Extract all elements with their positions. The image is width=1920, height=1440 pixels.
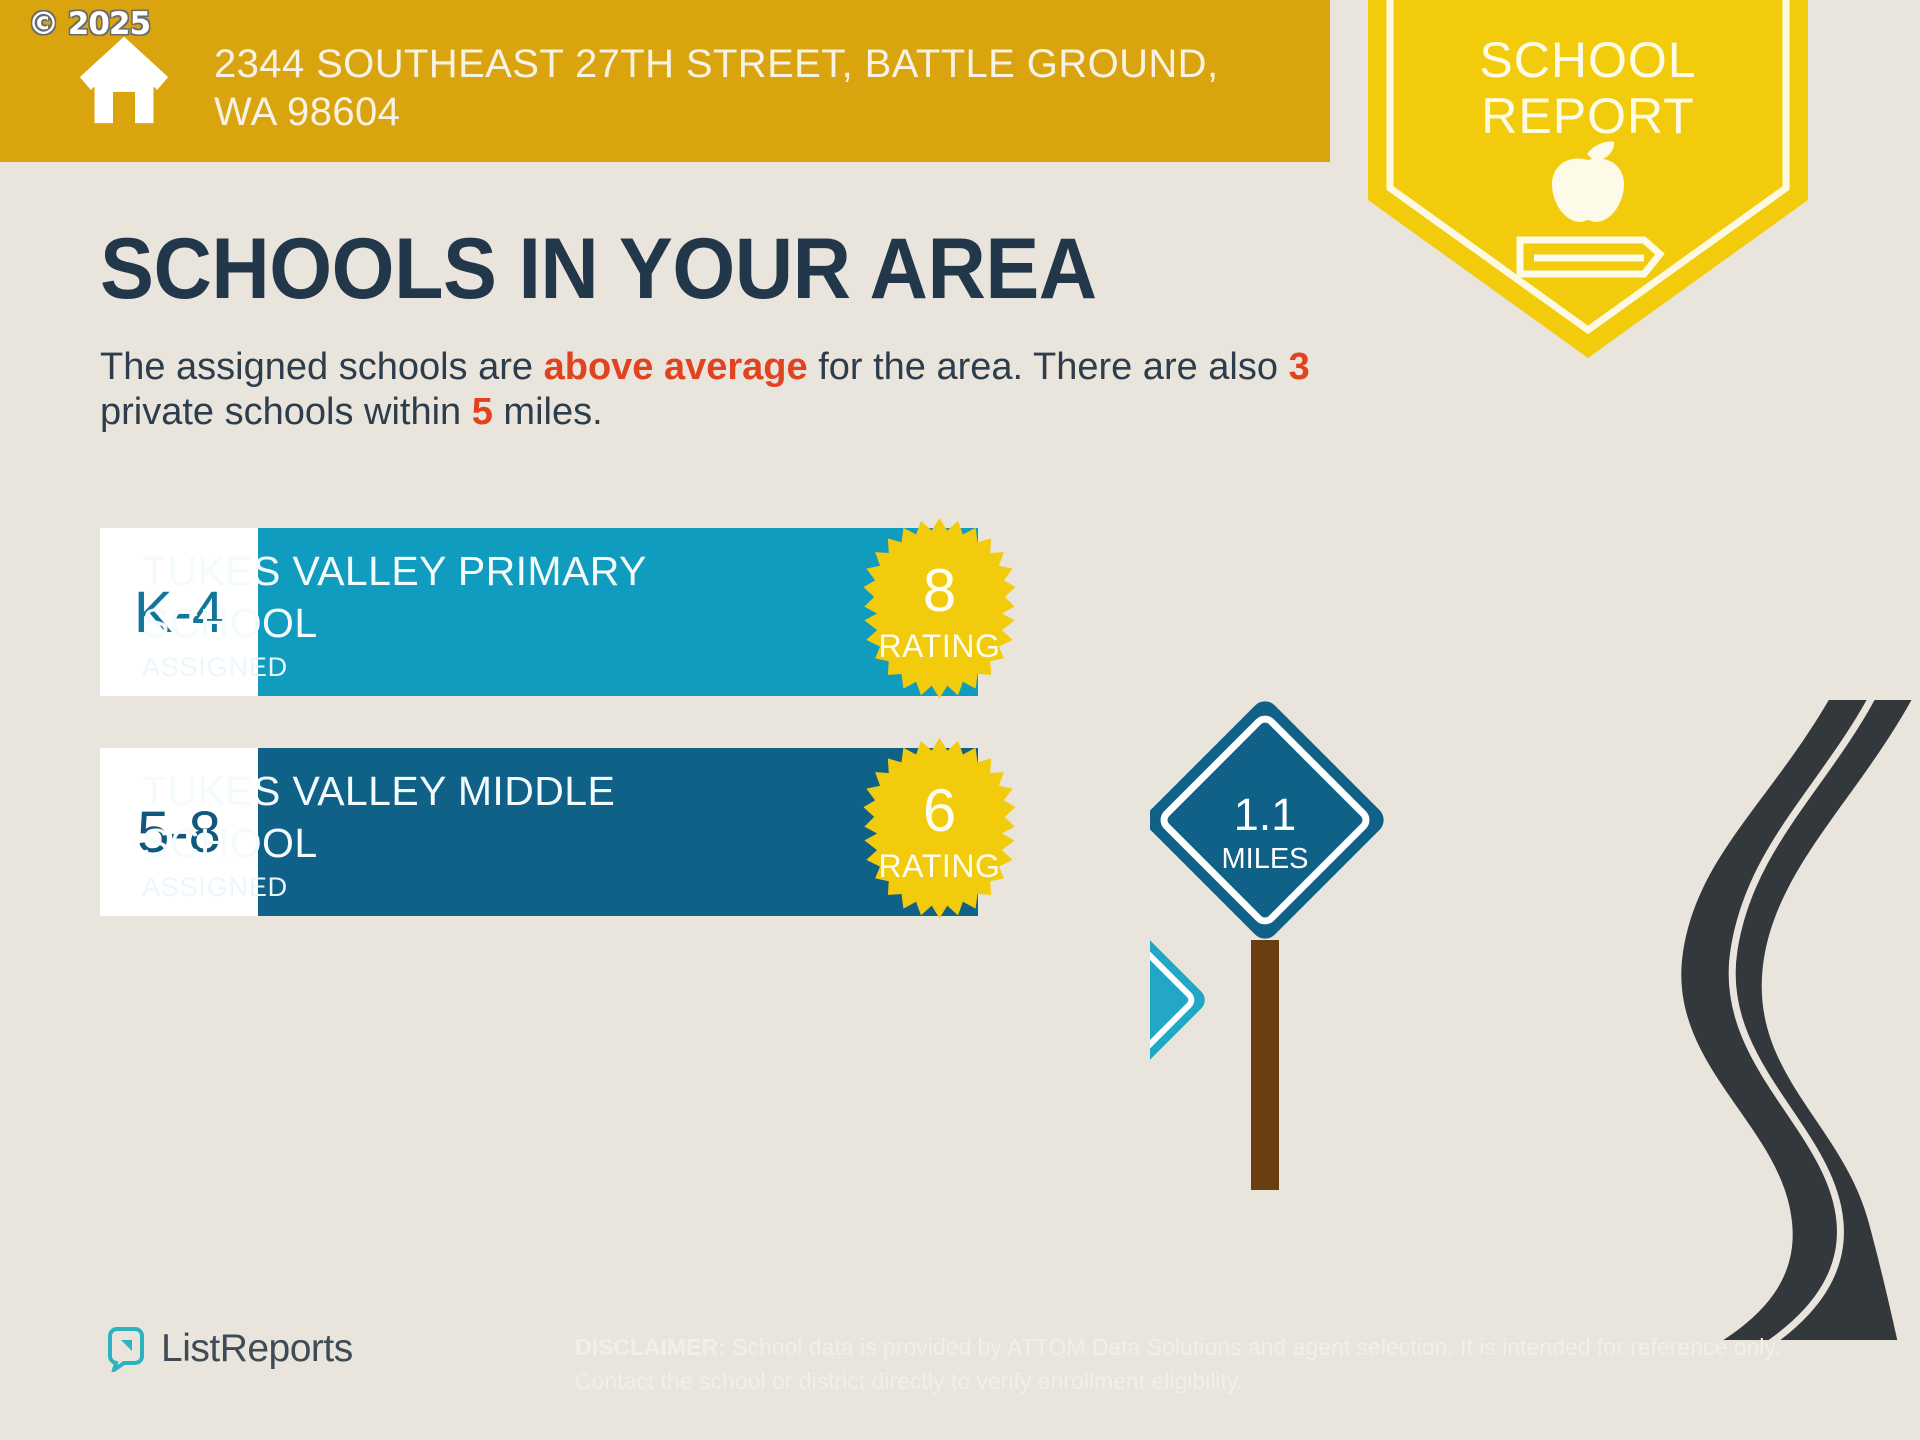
property-address: 2344 SOUTHEAST 27TH STREET, BATTLE GROUN… [214, 40, 1234, 136]
sign-distance-value: 1.1 [1234, 789, 1297, 840]
listreports-logo-text: ListReports [161, 1327, 353, 1371]
copyright-watermark: © 2025 [28, 6, 150, 42]
sign-distance-unit: MILES [1221, 843, 1308, 875]
summary-highlight-above-average: above average [544, 346, 808, 388]
listreports-logo[interactable]: ListReports [104, 1326, 353, 1372]
summary-part-3: private schools within [100, 391, 472, 433]
sign-plate [1150, 905, 1210, 1095]
school-name: TUKES VALLEY PRIMARY SCHOOL [142, 545, 782, 649]
summary-text: The assigned schools are above average f… [100, 345, 1315, 435]
disclaimer-text: DISCLAIMER: School data is provided by A… [575, 1330, 1800, 1398]
road-illustration: 1.1 MILES 1.1 MILES [1150, 700, 1920, 1340]
school-report-badge-label: SCHOOL REPORT [1368, 32, 1808, 144]
school-rating-value: 6 [842, 780, 1037, 842]
sign-distance-unit: MILES [1150, 1015, 1151, 1042]
school-rating-label: RATING [842, 848, 1037, 885]
listreports-logo-icon [104, 1326, 148, 1372]
summary-highlight-radius: 5 [472, 391, 493, 433]
school-assigned-label: ASSIGNED [142, 872, 288, 903]
summary-part-4: miles. [493, 391, 603, 433]
distance-sign-near: 1.1 MILES [1150, 905, 1210, 1290]
summary-highlight-private-count: 3 [1289, 346, 1310, 388]
badge-line-2: REPORT [1368, 88, 1808, 144]
disclaimer-label: DISCLAIMER: [575, 1334, 726, 1360]
school-report-page: © 2025 2344 SOUTHEAST 27TH STREET, BATTL… [0, 0, 1920, 1440]
disclaimer-body: School data is provided by ATTOM Data So… [575, 1334, 1781, 1394]
badge-line-1: SCHOOL [1368, 32, 1808, 88]
sign-post [1251, 940, 1279, 1190]
summary-part-1: The assigned schools are [100, 346, 544, 388]
school-assigned-label: ASSIGNED [142, 652, 288, 683]
school-rating-value: 8 [842, 560, 1037, 622]
school-rating-label: RATING [842, 628, 1037, 665]
school-name: TUKES VALLEY MIDDLE SCHOOL [142, 765, 782, 869]
distance-sign-far: 1.1 MILES [1150, 700, 1389, 1190]
home-icon [78, 33, 170, 125]
summary-part-2: for the area. There are also [808, 346, 1289, 388]
page-title: SCHOOLS IN YOUR AREA [100, 225, 1097, 313]
